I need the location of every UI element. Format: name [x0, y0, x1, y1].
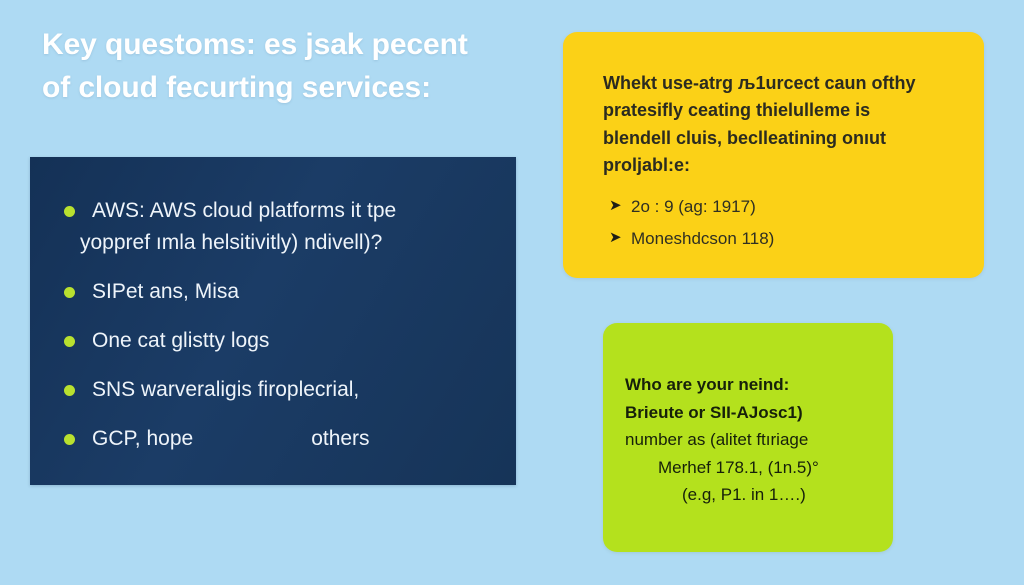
- yellow-paragraph-line-4: proljabl:e:: [603, 152, 948, 179]
- list-item-line-2: yoppref ımla helsitivitly) ndivell)?: [80, 227, 498, 259]
- bullet-dot-icon: [64, 287, 75, 298]
- list-item-trailing-text: others: [311, 423, 369, 455]
- yellow-card-arrow-list: ➤ 2o : 9 (aɡ: 1917) ➤ Moneshdcson 118): [609, 194, 949, 259]
- green-card-line-3: number as (alitet ftıriage: [625, 426, 886, 454]
- list-item-label: 2o : 9 (aɡ: 1917): [631, 197, 756, 216]
- list-item-label: Moneshdcson 118): [631, 229, 774, 248]
- arrow-right-icon: ➤: [609, 226, 622, 249]
- list-item: ➤ 2o : 9 (aɡ: 1917): [609, 194, 949, 220]
- bullet-dot-icon: [64, 206, 75, 217]
- list-item-line-1: AWS: AWS cloud platforms it tpe: [92, 195, 498, 227]
- list-item: SNS warveraligis firoplecrial,: [62, 374, 498, 406]
- yellow-paragraph-line-3: blendell cluis, beclleatining onıut: [603, 125, 948, 152]
- list-item-line-1: One cat glistty logs: [92, 325, 498, 357]
- page-title-line-1: Key questoms: es jsak pecent: [42, 24, 542, 67]
- list-item-text: GCP, hope: [92, 427, 193, 450]
- list-item-line-1: GCP, hopeothers: [92, 423, 498, 455]
- arrow-right-icon: ➤: [609, 194, 622, 217]
- green-card-line-1: Who are your neind:: [625, 371, 886, 399]
- green-callout-card: Who are your neind: Brieute or SII-AJosc…: [603, 323, 893, 552]
- yellow-paragraph-line-1: Whekt use-atrg љ1urcect caun ofthy: [603, 70, 948, 97]
- list-item: AWS: AWS cloud platforms it tpe yoppref …: [62, 195, 498, 259]
- page-title: Key questoms: es jsak pecent of cloud fe…: [42, 24, 542, 109]
- list-item: One cat glistty logs: [62, 325, 498, 357]
- green-card-line-5: (e.g, P1. in 1….): [682, 481, 886, 509]
- navy-bullet-panel: AWS: AWS cloud platforms it tpe yoppref …: [30, 157, 516, 485]
- bullet-dot-icon: [64, 385, 75, 396]
- list-item-line-1: SIPet ans, Misa: [92, 276, 498, 308]
- green-card-body: Who are your neind: Brieute or SII-AJosc…: [614, 371, 886, 509]
- yellow-callout-card: Whekt use-atrg љ1urcect caun ofthy prate…: [563, 32, 984, 278]
- bullet-dot-icon: [64, 336, 75, 347]
- list-item-line-1: SNS warveraligis firoplecrial,: [92, 374, 498, 406]
- list-item: GCP, hopeothers: [62, 423, 498, 455]
- page-title-line-2: of cloud fecurting services:: [42, 67, 542, 110]
- navy-bullet-list: AWS: AWS cloud platforms it tpe yoppref …: [62, 195, 498, 454]
- list-item: ➤ Moneshdcson 118): [609, 226, 949, 252]
- green-card-line-2: Brieute or SII-AJosc1): [625, 399, 886, 427]
- yellow-card-paragraph: Whekt use-atrg љ1urcect caun ofthy prate…: [603, 70, 948, 179]
- yellow-paragraph-line-2: pratesifly ceating thielulleme is: [603, 97, 948, 124]
- list-item: SIPet ans, Misa: [62, 276, 498, 308]
- slide-canvas: Key questoms: es jsak pecent of cloud fe…: [0, 0, 1024, 585]
- bullet-dot-icon: [64, 434, 75, 445]
- green-card-line-4: Merhef 178.1, (1n.5)°: [658, 454, 886, 482]
